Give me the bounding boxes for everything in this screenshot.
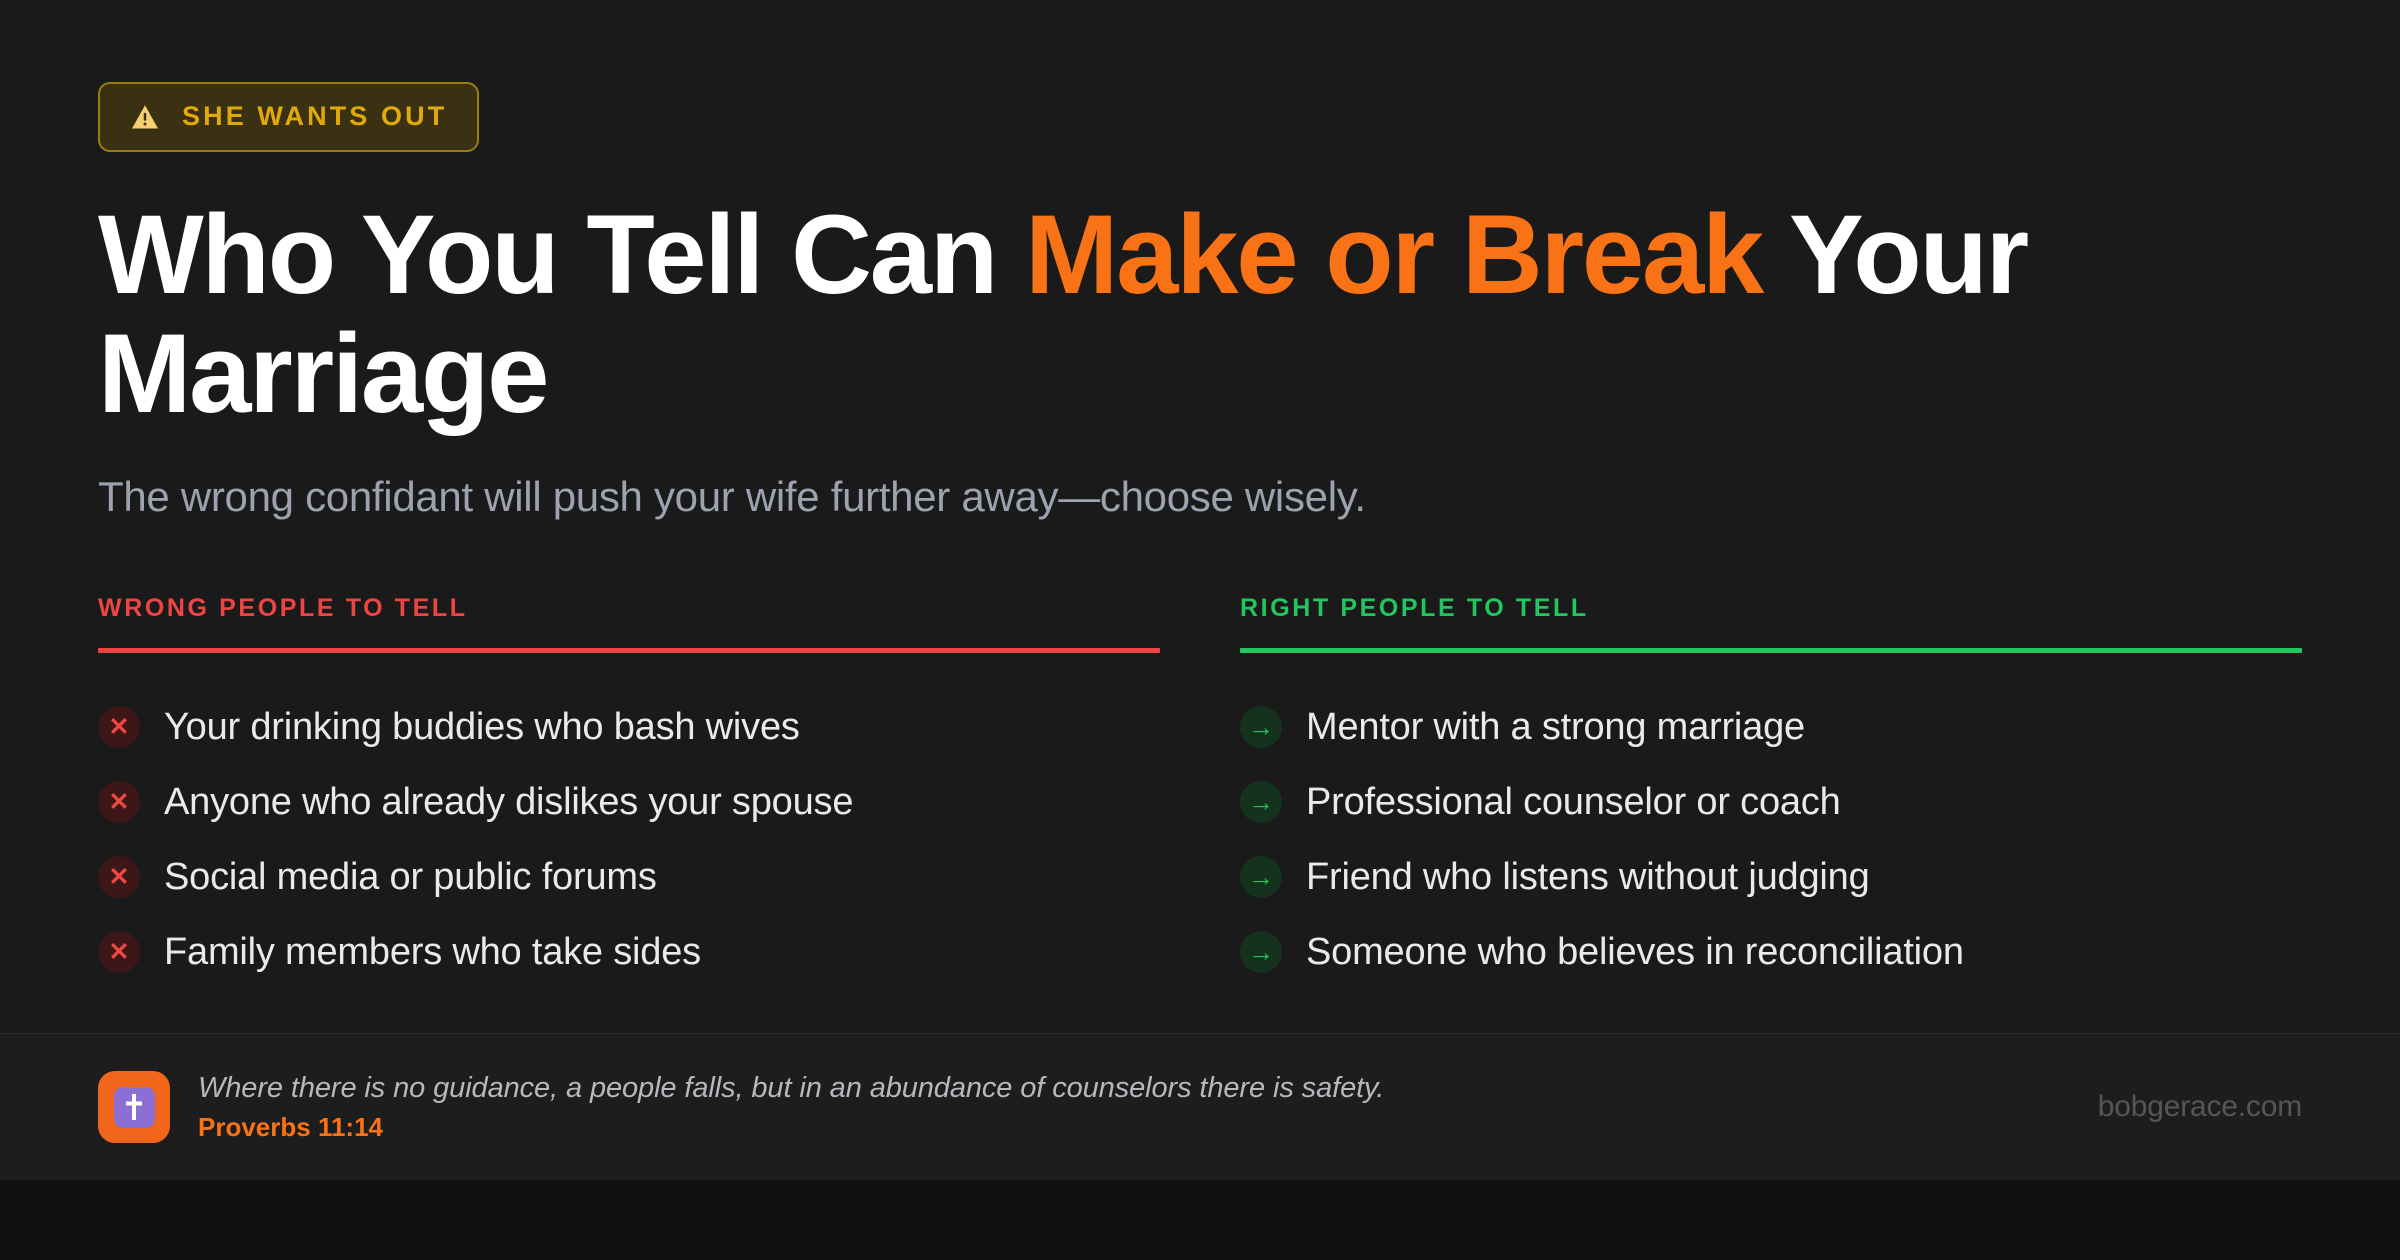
verse-app-icon	[98, 1071, 170, 1143]
column-header-right: RIGHT PEOPLE TO TELL	[1240, 596, 2302, 648]
list-item: ✕ Family members who take sides	[98, 915, 1160, 990]
x-circle-icon: ✕	[98, 781, 140, 823]
list-item-label: Someone who believes in reconciliation	[1306, 932, 1964, 974]
x-circle-icon: ✕	[98, 931, 140, 973]
x-circle-icon: ✕	[98, 706, 140, 748]
slide-body: SHE WANTS OUT Who You Tell Can Make or B…	[0, 0, 2400, 1033]
x-circle-icon: ✕	[98, 856, 140, 898]
arrow-right-circle-icon: →	[1240, 931, 1282, 973]
status-badge-label: SHE WANTS OUT	[182, 103, 447, 130]
column-header-wrong: WRONG PEOPLE TO TELL	[98, 596, 1160, 648]
slide-root: SHE WANTS OUT Who You Tell Can Make or B…	[0, 0, 2400, 1260]
verse-app-icon-inner	[114, 1087, 155, 1128]
list-item-label: Family members who take sides	[164, 932, 701, 974]
list-item: → Professional counselor or coach	[1240, 765, 2302, 840]
list-item-label: Social media or public forums	[164, 857, 657, 899]
column-divider-wrong	[98, 648, 1160, 653]
list-item-label: Mentor with a strong marriage	[1306, 707, 1805, 749]
list-item: ✕ Anyone who already dislikes your spous…	[98, 765, 1160, 840]
page-title-part1: Who You Tell Can	[98, 192, 1025, 317]
comparison-columns: WRONG PEOPLE TO TELL ✕ Your drinking bud…	[98, 596, 2302, 990]
page-title: Who You Tell Can Make or Break Your Marr…	[98, 196, 2178, 433]
list-item-label: Professional counselor or coach	[1306, 782, 1841, 824]
list-item: → Someone who believes in reconciliation	[1240, 915, 2302, 990]
list-item: ✕ Your drinking buddies who bash wives	[98, 690, 1160, 765]
arrow-right-circle-icon: →	[1240, 781, 1282, 823]
column-right-people: RIGHT PEOPLE TO TELL → Mentor with a str…	[1240, 596, 2302, 990]
column-wrong-people: WRONG PEOPLE TO TELL ✕ Your drinking bud…	[98, 596, 1160, 990]
arrow-right-circle-icon: →	[1240, 856, 1282, 898]
list-item: → Friend who listens without judging	[1240, 840, 2302, 915]
list-right-people: → Mentor with a strong marriage → Profes…	[1240, 690, 2302, 990]
arrow-right-circle-icon: →	[1240, 706, 1282, 748]
list-item-label: Anyone who already dislikes your spouse	[164, 782, 853, 824]
page-subtitle: The wrong confidant will push your wife …	[98, 471, 2302, 524]
column-divider-right	[1240, 648, 2302, 653]
verse-reference: Proverbs 11:14	[198, 1113, 1384, 1142]
list-item: ✕ Social media or public forums	[98, 840, 1160, 915]
verse-quote: Where there is no guidance, a people fal…	[198, 1072, 1384, 1105]
cross-icon	[122, 1093, 146, 1121]
list-wrong-people: ✕ Your drinking buddies who bash wives ✕…	[98, 690, 1160, 990]
list-item-label: Your drinking buddies who bash wives	[164, 707, 800, 749]
warning-triangle-icon	[130, 101, 160, 132]
bottom-strip	[0, 1180, 2400, 1260]
page-title-accent: Make or Break	[1025, 192, 1762, 317]
verse-group: Where there is no guidance, a people fal…	[98, 1071, 1384, 1143]
list-item-label: Friend who listens without judging	[1306, 857, 1870, 899]
status-badge: SHE WANTS OUT	[98, 82, 479, 152]
list-item: → Mentor with a strong marriage	[1240, 690, 2302, 765]
footer-bar: Where there is no guidance, a people fal…	[0, 1033, 2400, 1180]
site-url: bobgerace.com	[2098, 1090, 2302, 1124]
verse-text-block: Where there is no guidance, a people fal…	[198, 1072, 1384, 1142]
